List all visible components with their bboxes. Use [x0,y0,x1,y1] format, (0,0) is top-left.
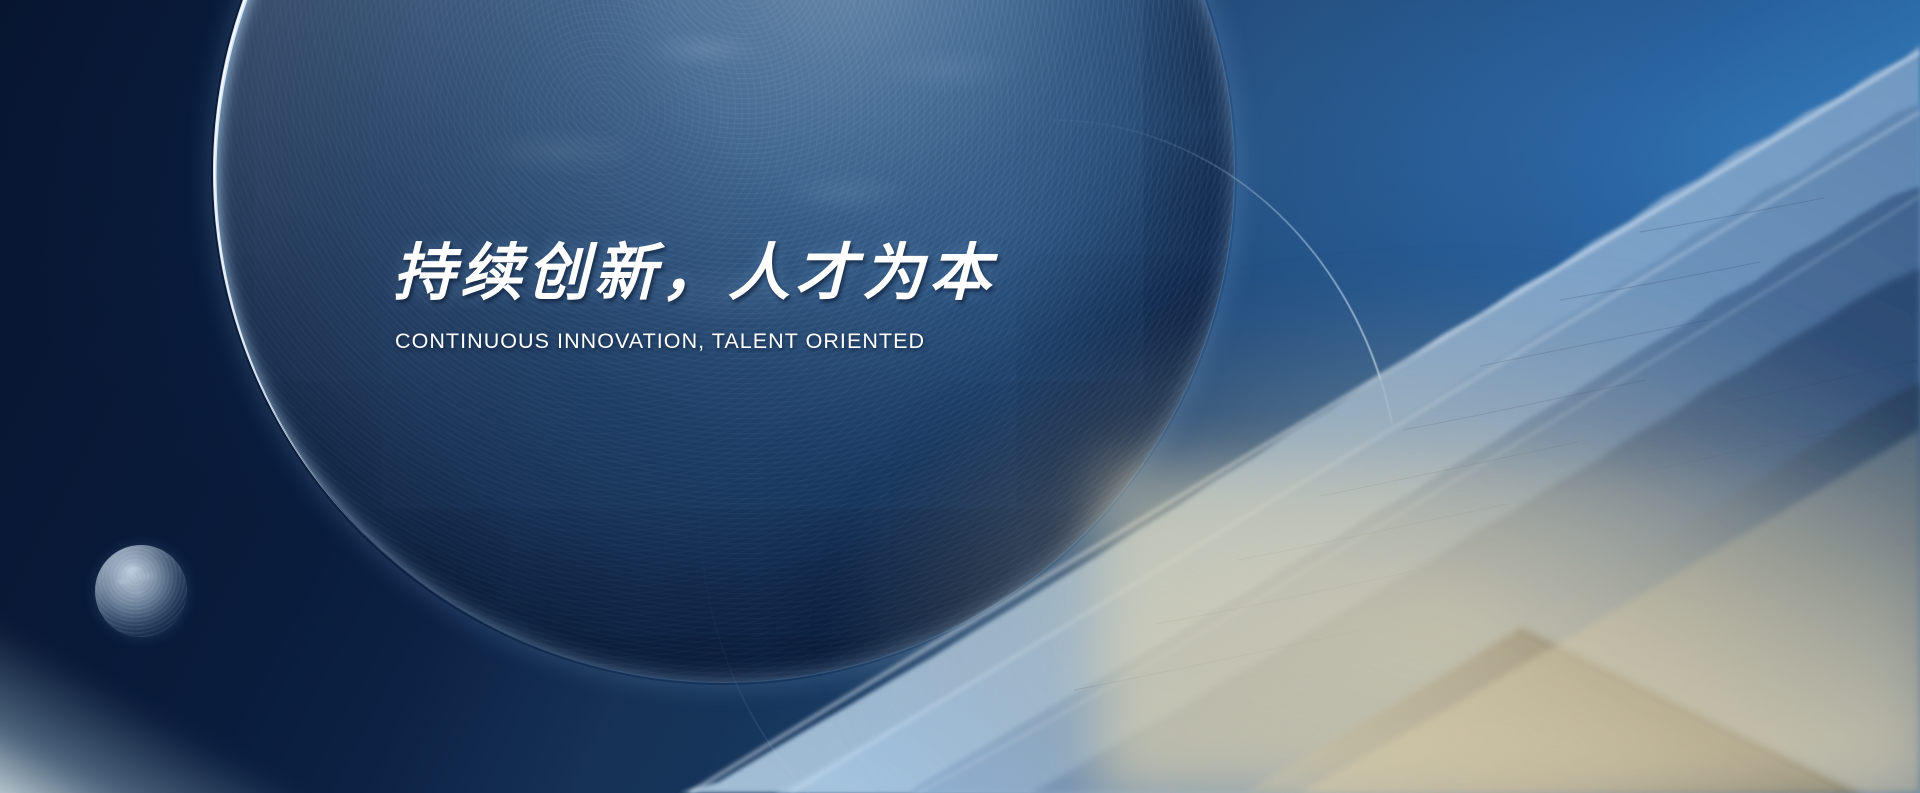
banner-copy: 持续创新，人才为本 CONTINUOUS INNOVATION, TALENT … [393,240,1113,354]
banner-stage: 持续创新，人才为本 CONTINUOUS INNOVATION, TALENT … [0,0,1920,793]
banner-subheadline: CONTINUOUS INNOVATION, TALENT ORIENTED [395,329,1113,354]
banner-headline: 持续创新，人才为本 [393,240,1113,307]
mountain-terrain [0,0,1920,793]
